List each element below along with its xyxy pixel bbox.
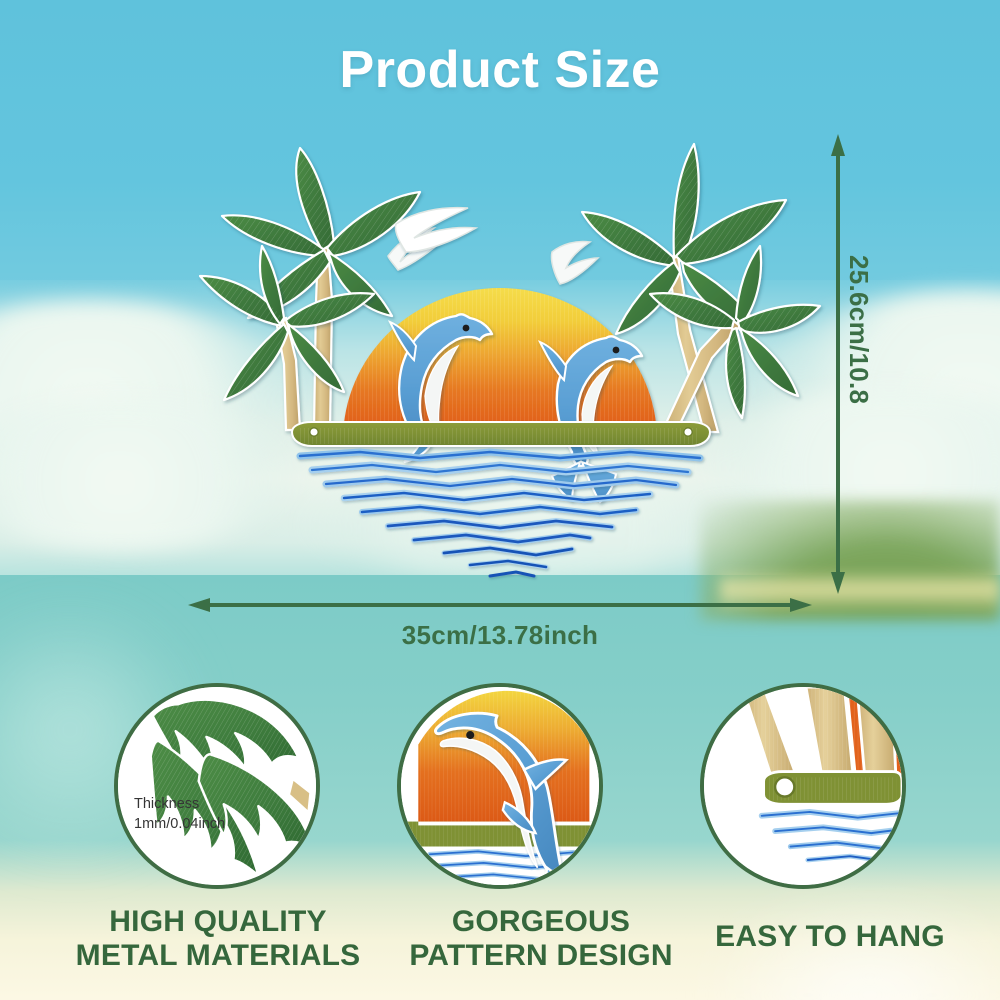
caption-quality: HIGH QUALITY METAL MATERIALS xyxy=(40,905,396,972)
caption-quality-line1: HIGH QUALITY xyxy=(40,905,396,939)
hanging-hole-left xyxy=(310,428,318,436)
caption-hang: EASY TO HANG xyxy=(680,920,980,954)
caption-pattern-line2: PATTERN DESIGN xyxy=(396,939,686,973)
seagull-right xyxy=(551,241,598,284)
feature-circle-pattern[interactable] xyxy=(397,683,603,889)
dimension-arrow-horizontal xyxy=(188,598,812,612)
hanging-hole-right xyxy=(684,428,692,436)
thickness-callout: Thickness 1mm/0.04inch xyxy=(134,795,225,834)
caption-pattern: GORGEOUS PATTERN DESIGN xyxy=(396,905,686,972)
caption-pattern-line1: GORGEOUS xyxy=(396,905,686,939)
dolphin-closeup-icon xyxy=(401,687,599,885)
product-size-infographic: Product Size xyxy=(0,0,1000,1000)
thickness-label: Thickness xyxy=(134,795,225,815)
feature-circle-quality[interactable]: Thickness 1mm/0.04inch xyxy=(114,683,320,889)
width-dimension-label: 35cm/13.78inch xyxy=(0,620,1000,651)
palm-frond-closeup-icon xyxy=(118,687,316,885)
hanging-hole xyxy=(775,777,794,796)
hanging-hole-closeup-icon xyxy=(704,687,902,885)
caption-quality-line2: METAL MATERIALS xyxy=(40,939,396,973)
caption-hang-line1: EASY TO HANG xyxy=(680,920,980,954)
feature-circle-hang[interactable] xyxy=(700,683,906,889)
height-dimension-label: 25.6cm/10.8 xyxy=(843,255,874,404)
thickness-value: 1mm/0.04inch xyxy=(134,815,225,835)
water-reflection xyxy=(300,452,700,576)
island-base xyxy=(292,422,710,446)
seagull-center xyxy=(395,208,476,252)
